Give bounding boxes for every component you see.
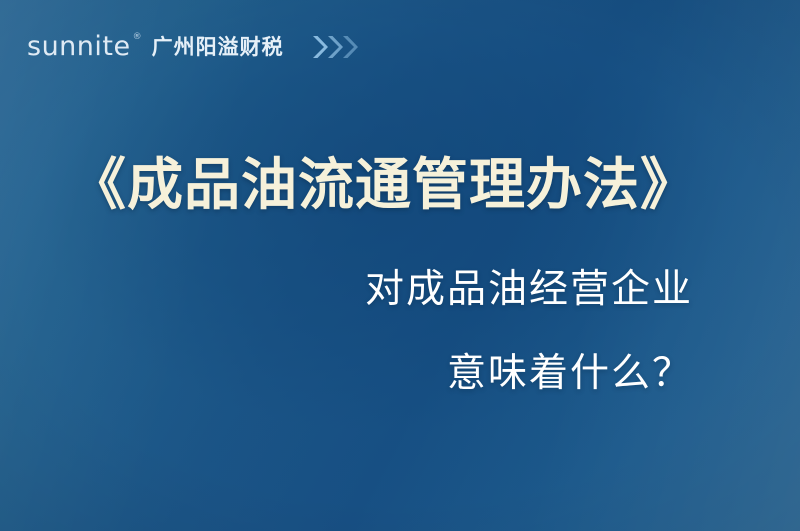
registered-trademark-icon: ® [133,33,142,42]
headline-subtitle-line-1: 对成品油经营企业 [0,270,800,309]
brand-lockup: sunnite ® 广州阳溢财税 [27,33,356,60]
headline-subtitle-line-2: 意味着什么？ [0,354,800,393]
chevron-right-icon [341,34,358,60]
chevron-arrows-group [311,34,356,60]
headline-block: 《成品油流通管理办法》 对成品油经营企业 意味着什么？ [0,158,800,393]
brand-bar: sunnite ® 广州阳溢财税 [0,0,800,92]
poster-banner: sunnite ® 广州阳溢财税 《成品油流通管理办法》 对成品油经营企业 意味… [0,0,800,531]
logo: sunnite ® [27,33,140,60]
logo-wordmark: sunnite [27,33,131,60]
headline-title: 《成品油流通管理办法》 [0,158,800,214]
company-name: 广州阳溢财税 [152,37,284,58]
